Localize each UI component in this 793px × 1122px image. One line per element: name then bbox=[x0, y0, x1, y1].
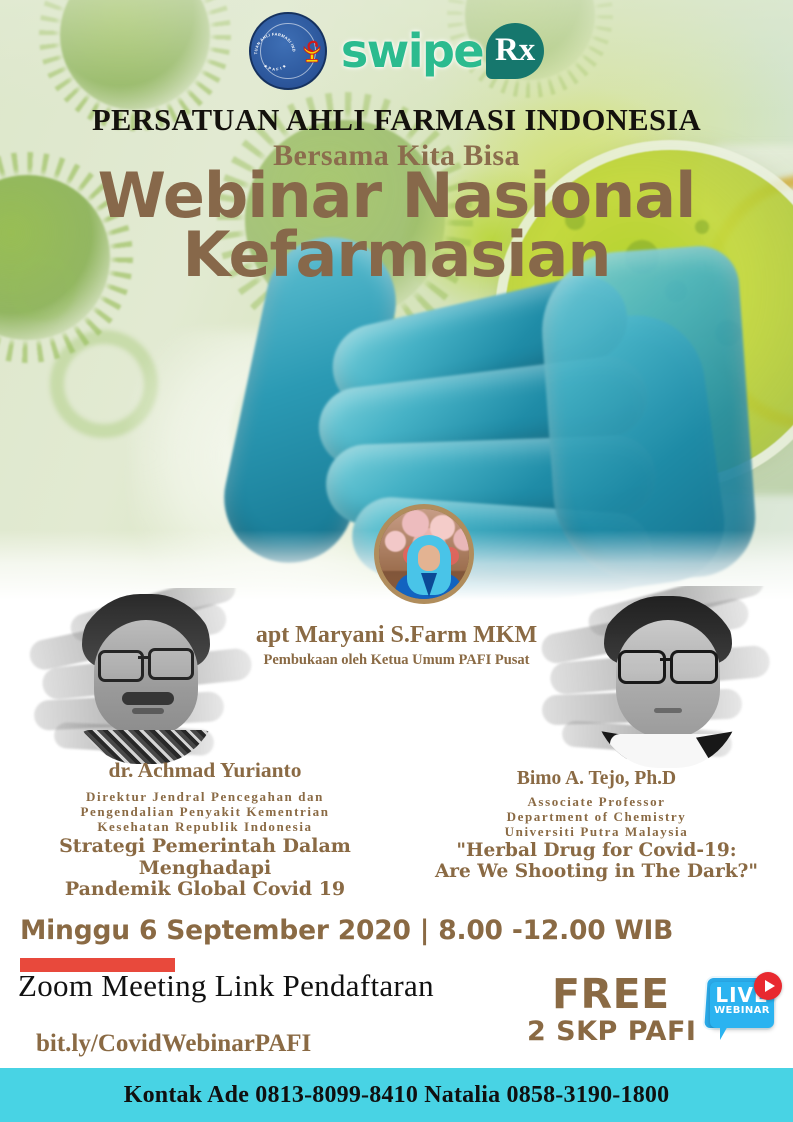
svg-text:PERSATUAN AHLI FARMASI INDONES: PERSATUAN AHLI FARMASI INDONESIA bbox=[251, 22, 297, 53]
webinar-poster: PERSATUAN AHLI FARMASI INDONESIA ★ P A F… bbox=[0, 0, 793, 1122]
live-badge-line2: WEBINAR bbox=[710, 1006, 774, 1016]
rx-bubble-icon: Rx bbox=[486, 23, 544, 79]
right-speaker-affiliation-line1: Associate Professor bbox=[400, 794, 793, 809]
left-speaker-topic-line2: Pandemik Global Covid 19 bbox=[0, 879, 410, 900]
left-speaker-affiliation-line3: Kesehatan Republik Indonesia bbox=[0, 819, 410, 834]
registration-link[interactable]: bit.ly/CovidWebinarPAFI bbox=[36, 1030, 311, 1058]
contact-footer: Kontak Ade 0813-8099-8410 Natalia 0858-3… bbox=[0, 1068, 793, 1122]
left-speaker-topic: Strategi Pemerintah Dalam Menghadapi Pan… bbox=[0, 836, 410, 900]
right-speaker-topic-line1: "Herbal Drug for Covid-19: bbox=[400, 841, 793, 862]
right-speaker-topic: "Herbal Drug for Covid-19: Are We Shooti… bbox=[400, 841, 793, 882]
pafi-logo-arc-text: PERSATUAN AHLI FARMASI INDONESIA ★ P A F… bbox=[251, 14, 299, 88]
skp-credits-label: 2 SKP PAFI bbox=[527, 1016, 696, 1047]
left-speaker-affiliation-line2: Pengendalian Penyakit Kementrian bbox=[0, 804, 410, 819]
right-speaker-topic-line2: Are We Shooting in The Dark?" bbox=[400, 862, 793, 883]
registration-label: Zoom Meeting Link Pendaftaran bbox=[18, 968, 434, 1004]
left-speaker-affiliation: Direktur Jendral Pencegahan dan Pengenda… bbox=[0, 789, 410, 834]
contact-text: Kontak Ade 0813-8099-8410 Natalia 0858-3… bbox=[124, 1082, 670, 1109]
rx-label: Rx bbox=[495, 34, 535, 67]
pafi-logo-icon: PERSATUAN AHLI FARMASI INDONESIA ★ P A F… bbox=[249, 12, 327, 90]
main-title-line2: Kefarmasian bbox=[0, 226, 793, 285]
left-speaker-affiliation-line1: Direktur Jendral Pencegahan dan bbox=[0, 789, 410, 804]
right-speaker-affiliation: Associate Professor Department of Chemis… bbox=[400, 794, 793, 839]
right-speaker-affiliation-line3: Universiti Putra Malaysia bbox=[400, 824, 793, 839]
center-speaker-avatar bbox=[374, 504, 474, 604]
bowl-of-hygieia-icon bbox=[299, 29, 325, 73]
left-speaker-topic-line1: Strategi Pemerintah Dalam Menghadapi bbox=[0, 836, 410, 879]
right-speaker-info: Bimo A. Tejo, Ph.D Associate Professor D… bbox=[400, 768, 793, 883]
event-datetime: Minggu 6 September 2020 | 8.00 -12.00 WI… bbox=[20, 915, 673, 946]
right-speaker-affiliation-line2: Department of Chemistry bbox=[400, 809, 793, 824]
right-speaker-portrait bbox=[592, 596, 742, 768]
swiperx-logo: swipe Rx bbox=[341, 23, 544, 79]
right-speaker-name: Bimo A. Tejo, Ph.D bbox=[400, 768, 793, 790]
page-title: Webinar Nasional Kefarmasian bbox=[0, 167, 793, 285]
svg-text:★ P A F I ★: ★ P A F I ★ bbox=[263, 62, 287, 71]
price-free-label: FREE bbox=[552, 970, 670, 1018]
play-button-icon bbox=[754, 972, 782, 1000]
left-speaker-info: dr. Achmad Yurianto Direktur Jendral Pen… bbox=[0, 758, 410, 900]
left-speaker-name: dr. Achmad Yurianto bbox=[0, 758, 410, 783]
organization-name: PERSATUAN AHLI FARMASI INDONESIA bbox=[0, 103, 793, 138]
live-webinar-badge: LIVE WEBINAR bbox=[698, 972, 782, 1044]
logo-row: PERSATUAN AHLI FARMASI INDONESIA ★ P A F… bbox=[0, 8, 793, 93]
left-speaker-portrait bbox=[72, 594, 220, 764]
swipe-wordmark: swipe bbox=[341, 28, 483, 74]
speech-bubble-tail-icon bbox=[720, 1024, 729, 1040]
